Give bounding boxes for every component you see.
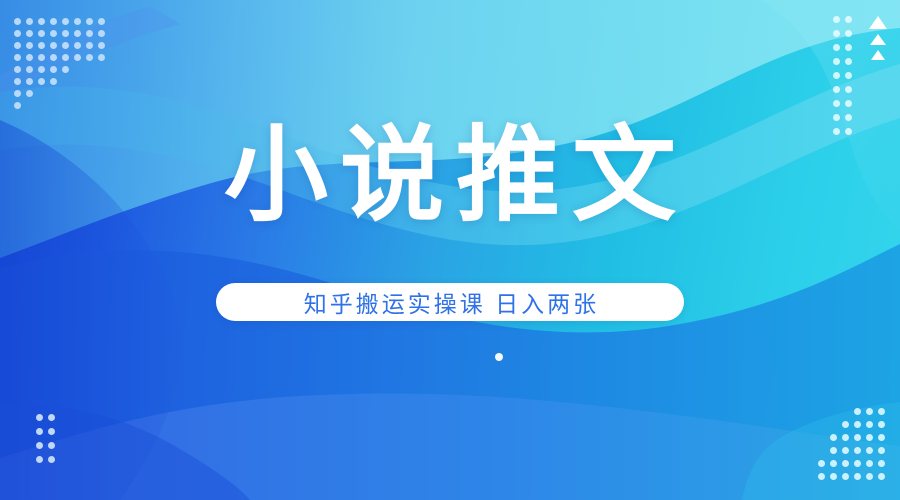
banner-content: 小说推文 知乎搬运实操课 日入两张 [0, 0, 900, 500]
banner-subtitle: 知乎搬运实操课 日入两张 [301, 285, 599, 319]
promo-banner: 小说推文 知乎搬运实操课 日入两张 [0, 0, 900, 500]
accent-dot [495, 353, 503, 361]
subtitle-pill: 知乎搬运实操课 日入两张 [216, 283, 684, 321]
banner-title: 小说推文 [0, 118, 900, 234]
